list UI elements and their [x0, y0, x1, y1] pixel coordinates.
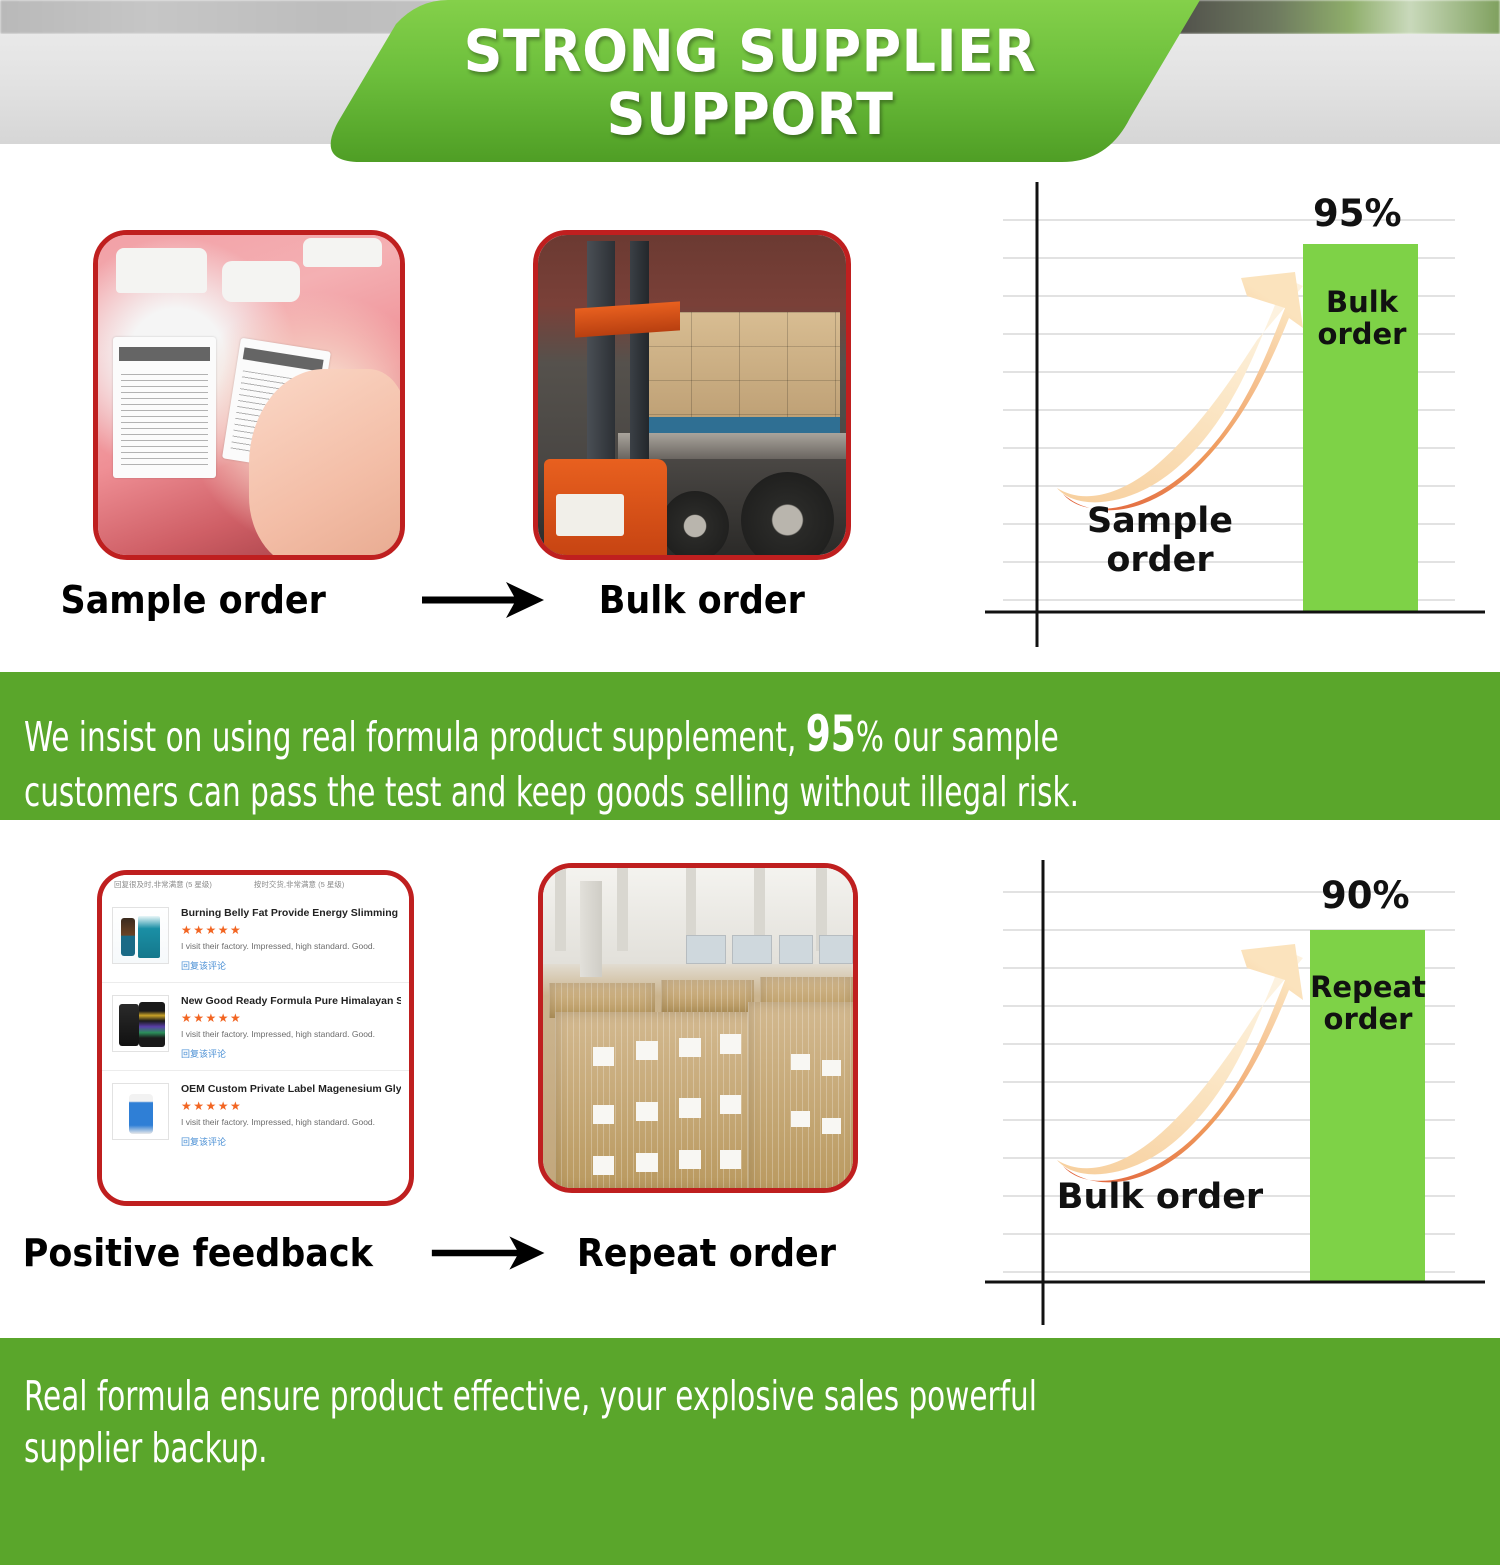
green-banner-middle-text: We insist on using real formula product … [24, 702, 1079, 818]
review-text: I visit their factory. Impressed, high s… [181, 1029, 401, 1039]
arrow-shadow-layer [1057, 950, 1303, 1174]
growth-arrow-icon [1063, 944, 1303, 1182]
chart-bar-label: Repeat order [1303, 972, 1433, 1036]
flow-label-sample-order: Sample order [0, 578, 386, 622]
reply-link[interactable]: 回复该评论 [181, 1135, 401, 1148]
chart-sample-to-bulk: 95% Bulk order Sample order [985, 182, 1485, 647]
review-product-title[interactable]: Burning Belly Fat Provide Energy Slimmin… [181, 907, 401, 919]
page-title-line1: STRONG SUPPLIER [332, 20, 1169, 83]
flow-label-repeat-order: Repeat order [550, 1231, 863, 1275]
review-list-item[interactable]: New Good Ready Formula Pure Himalayan Sh… [102, 983, 409, 1071]
review-product-title[interactable]: OEM Custom Private Label Magenesium Glyc… [181, 1083, 401, 1095]
page-title-line2: SUPPORT [332, 83, 1169, 146]
section-sample-to-bulk: Sample order Bulk order [0, 182, 1500, 672]
banner-bottom-line2: supplier backup. [24, 1422, 1037, 1474]
reply-link[interactable]: 回复该评论 [181, 1047, 401, 1060]
reply-link[interactable]: 回复该评论 [181, 959, 401, 972]
flow-label-positive-feedback: Positive feedback [0, 1231, 396, 1275]
section-feedback-to-repeat: 回复很及时,非常满意 (5 星级) 按时交货,非常满意 (5 星级) Burni… [0, 848, 1500, 1338]
page-title: STRONG SUPPLIER SUPPORT [332, 20, 1169, 145]
review-text: I visit their factory. Impressed, high s… [181, 941, 401, 951]
reviews-panel: 回复很及时,非常满意 (5 星级) 按时交货,非常满意 (5 星级) Burni… [102, 875, 409, 1201]
banner-mid-part-b: % our sample [856, 713, 1059, 761]
rating-stars-icon: ★★★★★ [181, 923, 401, 937]
green-banner-bottom: Real formula ensure product effective, y… [0, 1338, 1500, 1565]
chart-baseline-label: Sample order [1045, 502, 1275, 580]
banner-bottom-line1: Real formula ensure product effective, y… [24, 1370, 1037, 1422]
product-thumbnail [112, 995, 169, 1052]
green-banner-middle: We insist on using real formula product … [0, 672, 1500, 820]
flow-row-sample-bulk: Sample order Bulk order [0, 570, 930, 630]
photo-repeat-warehouse [538, 863, 858, 1193]
banner-mid-highlight: 95 [806, 705, 856, 763]
flow-label-bulk-order: Bulk order [550, 578, 854, 622]
chart-bulk-to-repeat: 90% Repeat order Bulk order [985, 860, 1485, 1325]
rating-stars-icon: ★★★★★ [181, 1099, 401, 1113]
photo-positive-feedback: 回复很及时,非常满意 (5 星级) 按时交货,非常满意 (5 星级) Burni… [97, 870, 414, 1206]
product-thumbnail [112, 1083, 169, 1140]
reviews-header-col-1: 回复很及时,非常满意 (5 星级) [114, 879, 212, 890]
arrow-shadow-layer [1057, 278, 1303, 502]
forklift-image-art [538, 235, 846, 555]
photo-sample-bottles [93, 230, 405, 560]
arrow-right-icon [430, 1233, 550, 1273]
review-list-item[interactable]: OEM Custom Private Label Magenesium Glyc… [102, 1071, 409, 1158]
reviews-header-row: 回复很及时,非常满意 (5 星级) 按时交货,非常满意 (5 星级) [102, 875, 409, 895]
green-banner-bottom-text: Real formula ensure product effective, y… [24, 1370, 1037, 1475]
reviews-header-col-2: 按时交货,非常满意 (5 星级) [254, 879, 344, 890]
photo-bulk-forklift [533, 230, 851, 560]
review-product-title[interactable]: New Good Ready Formula Pure Himalayan Sh… [181, 995, 401, 1007]
rating-stars-icon: ★★★★★ [181, 1011, 401, 1025]
bottles-image-art [98, 235, 400, 555]
chart-baseline-label: Bulk order [1045, 1178, 1275, 1217]
arrow-right-icon [420, 580, 550, 620]
chart-bar-label: Bulk order [1303, 287, 1421, 351]
growth-arrow-icon [1063, 272, 1303, 510]
chart-value-label: 95% [1313, 192, 1402, 235]
product-thumbnail [112, 907, 169, 964]
warehouse-image-art [543, 868, 853, 1188]
review-text: I visit their factory. Impressed, high s… [181, 1117, 401, 1127]
flow-row-feedback-repeat: Positive feedback Repeat order [0, 1223, 930, 1283]
chart-value-label: 90% [1321, 874, 1410, 917]
banner-mid-part-a: We insist on using real formula product … [24, 713, 806, 761]
review-list-item[interactable]: Burning Belly Fat Provide Energy Slimmin… [102, 895, 409, 983]
banner-mid-line2: customers can pass the test and keep goo… [24, 766, 1079, 818]
